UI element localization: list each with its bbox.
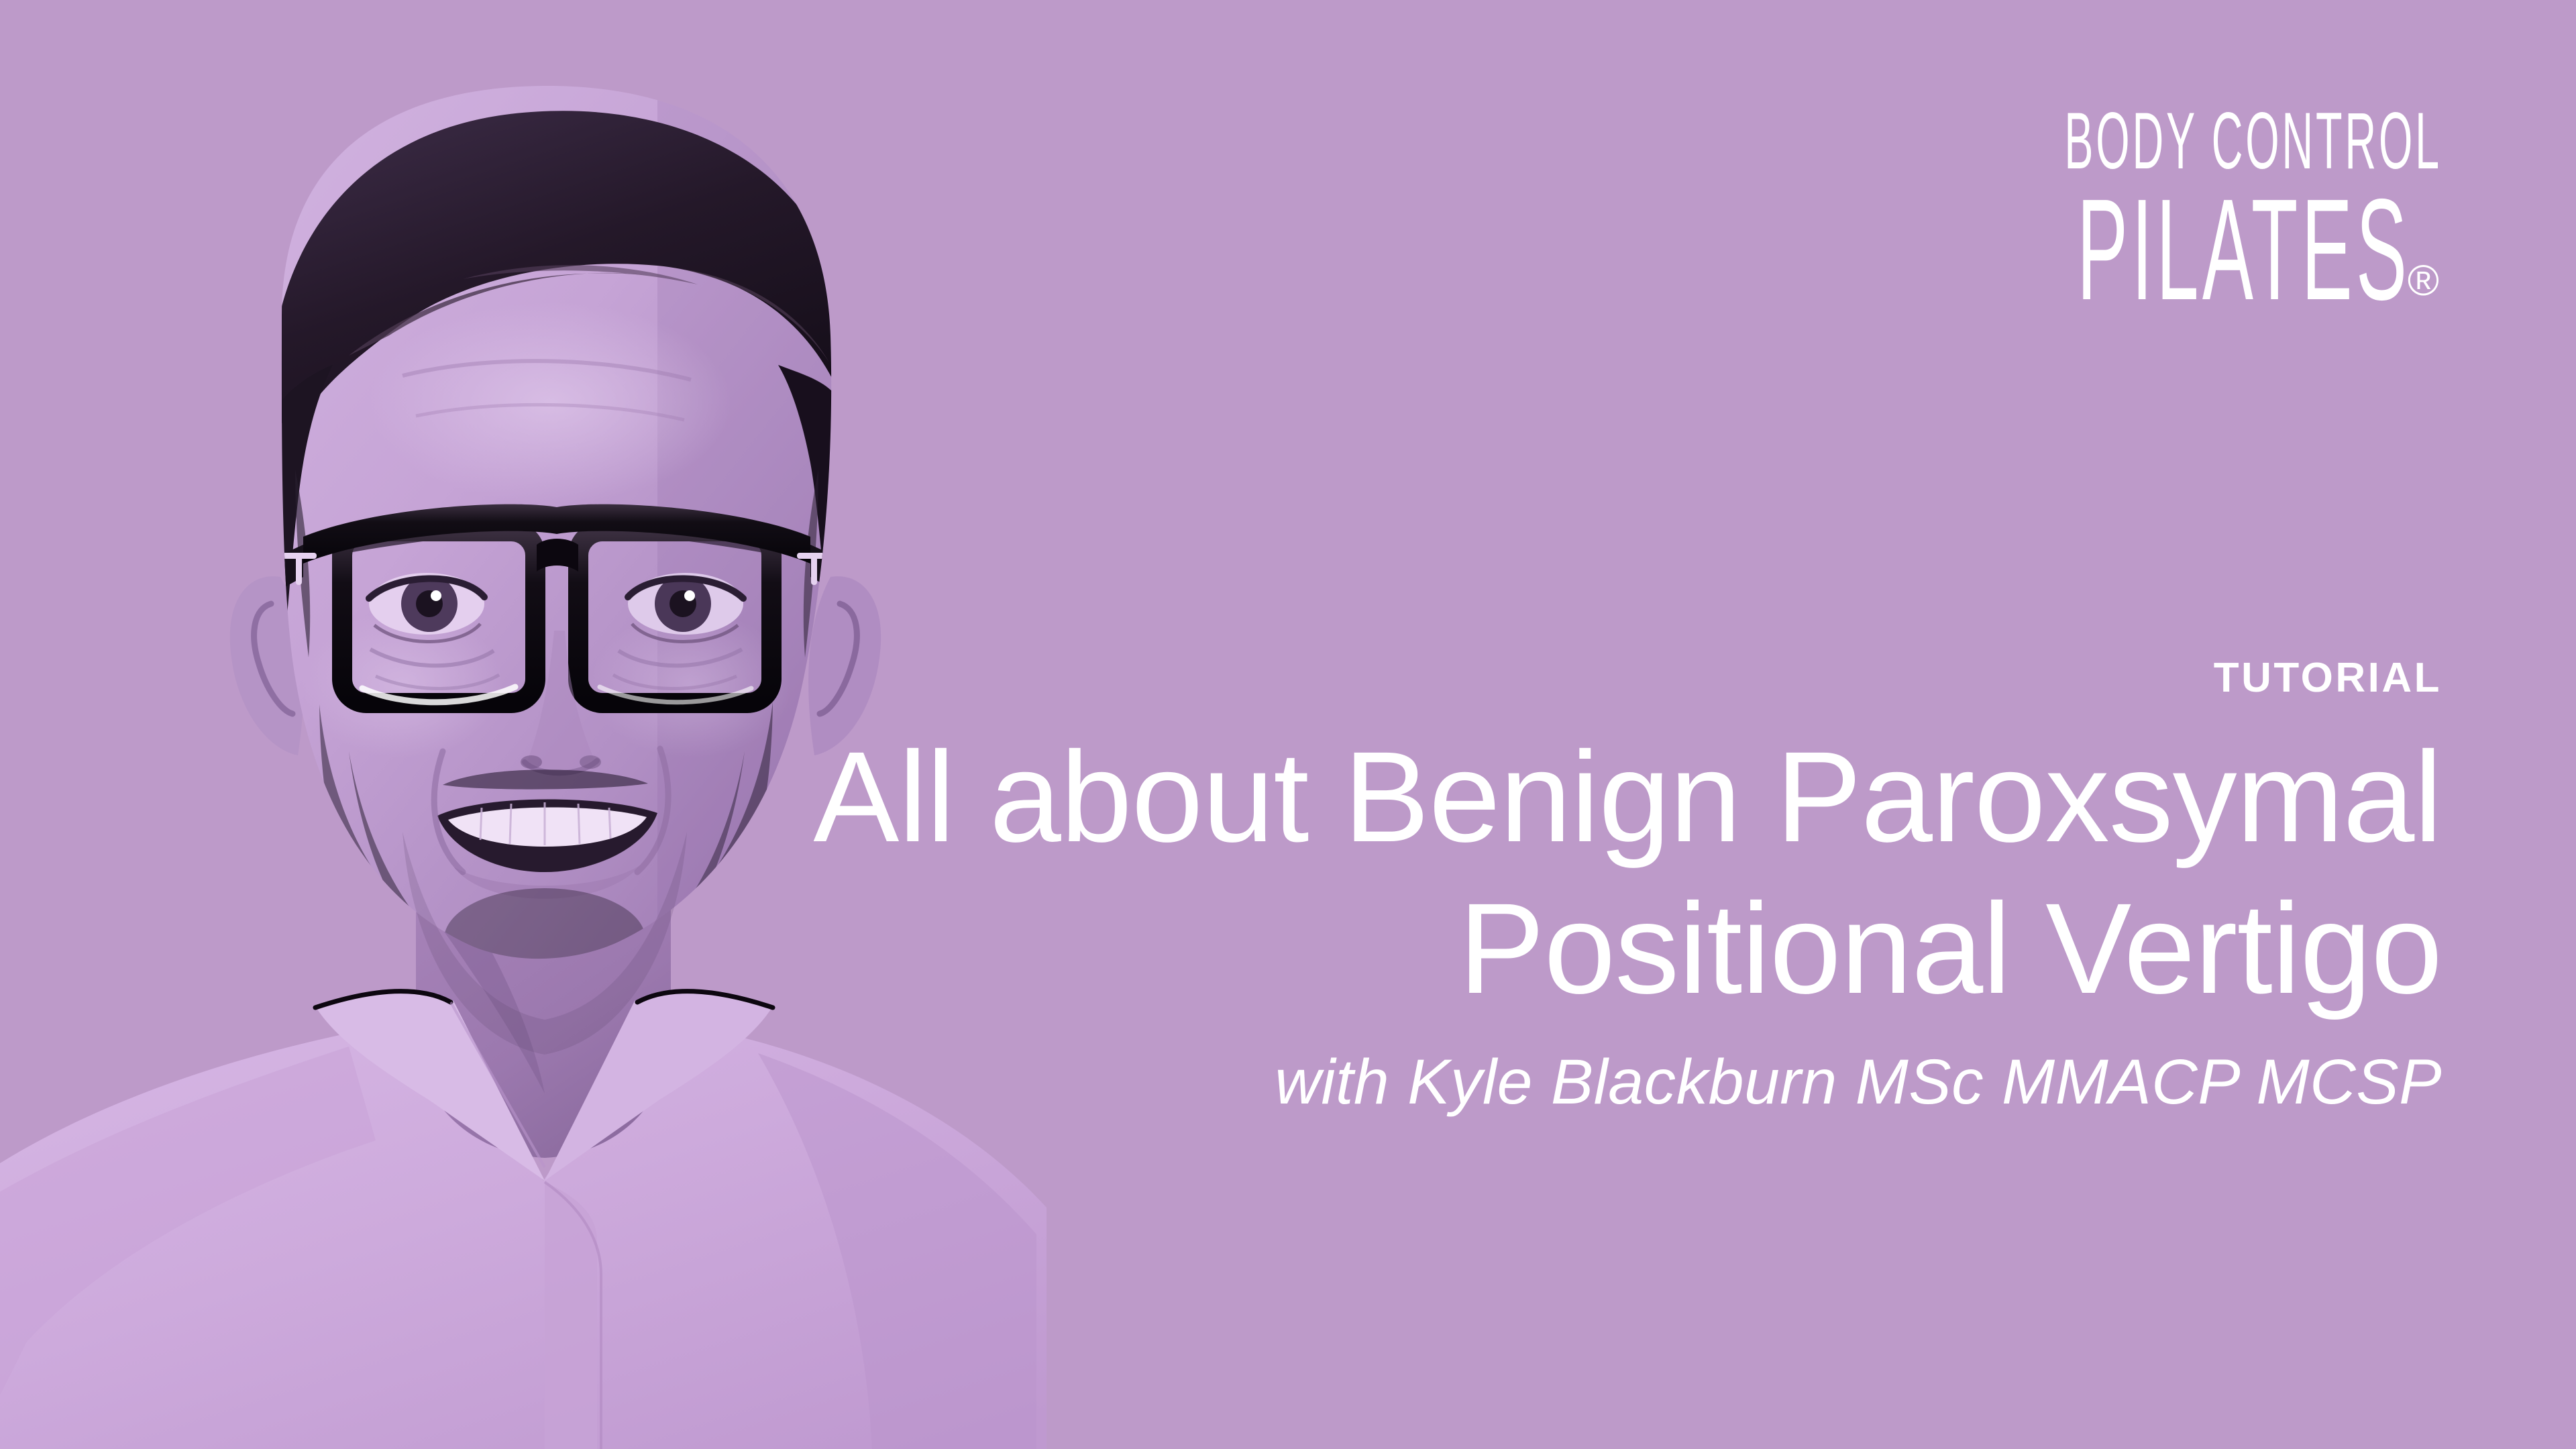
body-control-pilates-logo: BODY CONTROL PILATES®	[1743, 101, 2442, 321]
page-title-line-1: All about Benign Paroxsymal	[496, 733, 2442, 861]
tutorial-promo-card: BODY CONTROL PILATES® TUTORIAL All about…	[0, 0, 2576, 1449]
tutorial-text-block: TUTORIAL All about Benign Paroxsymal Pos…	[496, 657, 2442, 1114]
presenter-credits: with Kyle Blackburn MSc MMACP MCSP	[496, 1051, 2442, 1114]
content-type-label: TUTORIAL	[496, 657, 2442, 699]
page-title-line-2: Positional Vertigo	[496, 884, 2442, 1013]
registered-trademark-icon: ®	[2408, 259, 2439, 302]
logo-line-pilates-wrap: PILATES®	[1743, 177, 2442, 321]
logo-line-pilates: PILATES	[2077, 177, 2410, 321]
